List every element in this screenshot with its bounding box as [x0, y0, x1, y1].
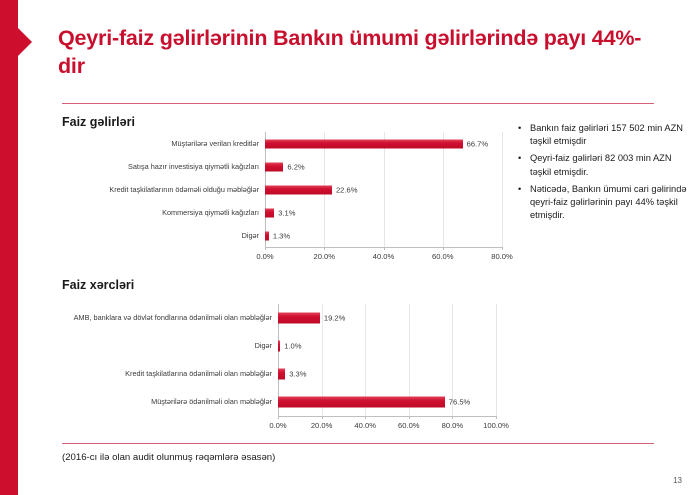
- chart-bar-row: Kommersiya qiymətli kağızları3.1%: [60, 201, 515, 224]
- slide-canvas: Qeyri-faiz gəlirlərinin Bankın ümumi gəl…: [0, 0, 700, 495]
- bullet-text: Bankın faiz gəlirləri 157 502 min AZN tə…: [530, 122, 688, 148]
- chart-bar-row: Kredit taşkilatlarının ödəməli olduğu mə…: [60, 178, 515, 201]
- left-accent-bar: [0, 0, 18, 495]
- divider-bottom: [62, 443, 654, 444]
- page-title: Qeyri-faiz gəlirlərinin Bankın ümumi gəl…: [58, 24, 658, 81]
- bar-track: 66.7%: [265, 132, 515, 155]
- bar-category-label: AMB, banklara və dövlət fondlarına ödəni…: [48, 313, 278, 322]
- chart-bar-row: AMB, banklara və dövlət fondlarına ödəni…: [48, 304, 518, 332]
- bullet-text: Nəticədə, Bankın ümumi cari gəlirində qe…: [530, 183, 688, 223]
- bar-value-label: 6.2%: [283, 162, 304, 171]
- axis-tick: [502, 247, 503, 250]
- bullet-dot-icon: •: [518, 152, 530, 178]
- axis-tick-label: 0.0%: [256, 252, 273, 261]
- bar-category-label: Kommersiya qiymətli kağızları: [60, 208, 265, 217]
- bar-category-label: Digər: [48, 341, 278, 350]
- bar-segment[interactable]: [265, 208, 274, 217]
- bullet-dot-icon: •: [518, 122, 530, 148]
- chart-faiz-xercleri: 0.0%20.0%40.0%60.0%80.0%100.0%AMB, bankl…: [48, 302, 518, 442]
- bar-track: 6.2%: [265, 155, 515, 178]
- axis-tick-label: 80.0%: [491, 252, 513, 261]
- axis-tick-label: 0.0%: [269, 421, 286, 430]
- bar-segment[interactable]: [265, 162, 283, 171]
- axis-tick-label: 20.0%: [313, 252, 335, 261]
- chart-bar-row: Digər1.0%: [48, 332, 518, 360]
- bar-category-label: Digər: [60, 231, 265, 240]
- chart-bar-row: Satışa hazır investisiya qiymətli kağızl…: [60, 155, 515, 178]
- list-item: • Qeyri-faiz gəlirləri 82 003 min AZN tə…: [518, 152, 688, 178]
- axis-tick-label: 60.0%: [432, 252, 454, 261]
- bar-segment[interactable]: [278, 369, 285, 380]
- bar-segment[interactable]: [278, 313, 320, 324]
- bar-segment[interactable]: [265, 185, 332, 194]
- bar-track: 1.3%: [265, 224, 515, 247]
- bar-segment[interactable]: [265, 139, 463, 148]
- bar-value-label: 1.3%: [269, 231, 290, 240]
- list-item: • Bankın faiz gəlirləri 157 502 min AZN …: [518, 122, 688, 148]
- bar-category-label: Kredit taşkilatlarının ödəməli olduğu mə…: [60, 185, 265, 194]
- footnote: (2016-cı ilə olan audit olunmuş rəqəmlər…: [62, 452, 275, 463]
- bar-category-label: Müştərilərə verilan kreditlər: [60, 139, 265, 148]
- chart-bar-row: Kredit taşkilatlarına ödənilməli olan mə…: [48, 360, 518, 388]
- chart-bar-row: Müştərilərə ödənilməli olan məbləğlər76.…: [48, 388, 518, 416]
- bar-segment[interactable]: [278, 397, 445, 408]
- chart-bar-row: Digər1.3%: [60, 224, 515, 247]
- bar-value-label: 22.6%: [332, 185, 358, 194]
- bullet-list: • Bankın faiz gəlirləri 157 502 min AZN …: [518, 122, 688, 226]
- section-heading-income: Faiz gəlirləri: [62, 115, 135, 129]
- bar-value-label: 19.2%: [320, 314, 346, 323]
- bar-track: 1.0%: [278, 332, 518, 360]
- axis-tick-label: 80.0%: [442, 421, 464, 430]
- x-axis-line: [265, 247, 502, 248]
- bar-category-label: Kredit taşkilatlarına ödənilməli olan mə…: [48, 369, 278, 378]
- chart-faiz-gelirleri: 0.0%20.0%40.0%60.0%80.0%Müştərilərə veri…: [60, 130, 515, 265]
- bar-value-label: 76.5%: [445, 398, 471, 407]
- axis-tick-label: 20.0%: [311, 421, 333, 430]
- bar-track: 3.1%: [265, 201, 515, 224]
- axis-tick-label: 40.0%: [373, 252, 395, 261]
- axis-tick: [496, 416, 497, 419]
- bullet-text: Qeyri-faiz gəlirləri 82 003 min AZN təşk…: [530, 152, 688, 178]
- bar-track: 3.3%: [278, 360, 518, 388]
- bar-track: 76.5%: [278, 388, 518, 416]
- bar-track: 22.6%: [265, 178, 515, 201]
- bar-value-label: 3.3%: [285, 370, 306, 379]
- x-axis-line: [278, 416, 496, 417]
- bar-value-label: 1.0%: [280, 342, 301, 351]
- section-heading-expense: Faiz xərcləri: [62, 278, 134, 292]
- axis-tick-label: 40.0%: [354, 421, 376, 430]
- bar-category-label: Satışa hazır investisiya qiymətli kağızl…: [60, 162, 265, 171]
- bar-value-label: 66.7%: [463, 139, 489, 148]
- axis-tick-label: 60.0%: [398, 421, 420, 430]
- bar-value-label: 3.1%: [274, 208, 295, 217]
- divider-top: [62, 103, 654, 104]
- bullet-dot-icon: •: [518, 183, 530, 223]
- bar-track: 19.2%: [278, 304, 518, 332]
- chart-bar-row: Müştərilərə verilan kreditlər66.7%: [60, 132, 515, 155]
- list-item: • Nəticədə, Bankın ümumi cari gəlirində …: [518, 183, 688, 223]
- axis-tick-label: 100.0%: [483, 421, 509, 430]
- bar-category-label: Müştərilərə ödənilməli olan məbləğlər: [48, 397, 278, 406]
- chevron-right-icon: [18, 28, 32, 56]
- page-number: 13: [673, 476, 682, 485]
